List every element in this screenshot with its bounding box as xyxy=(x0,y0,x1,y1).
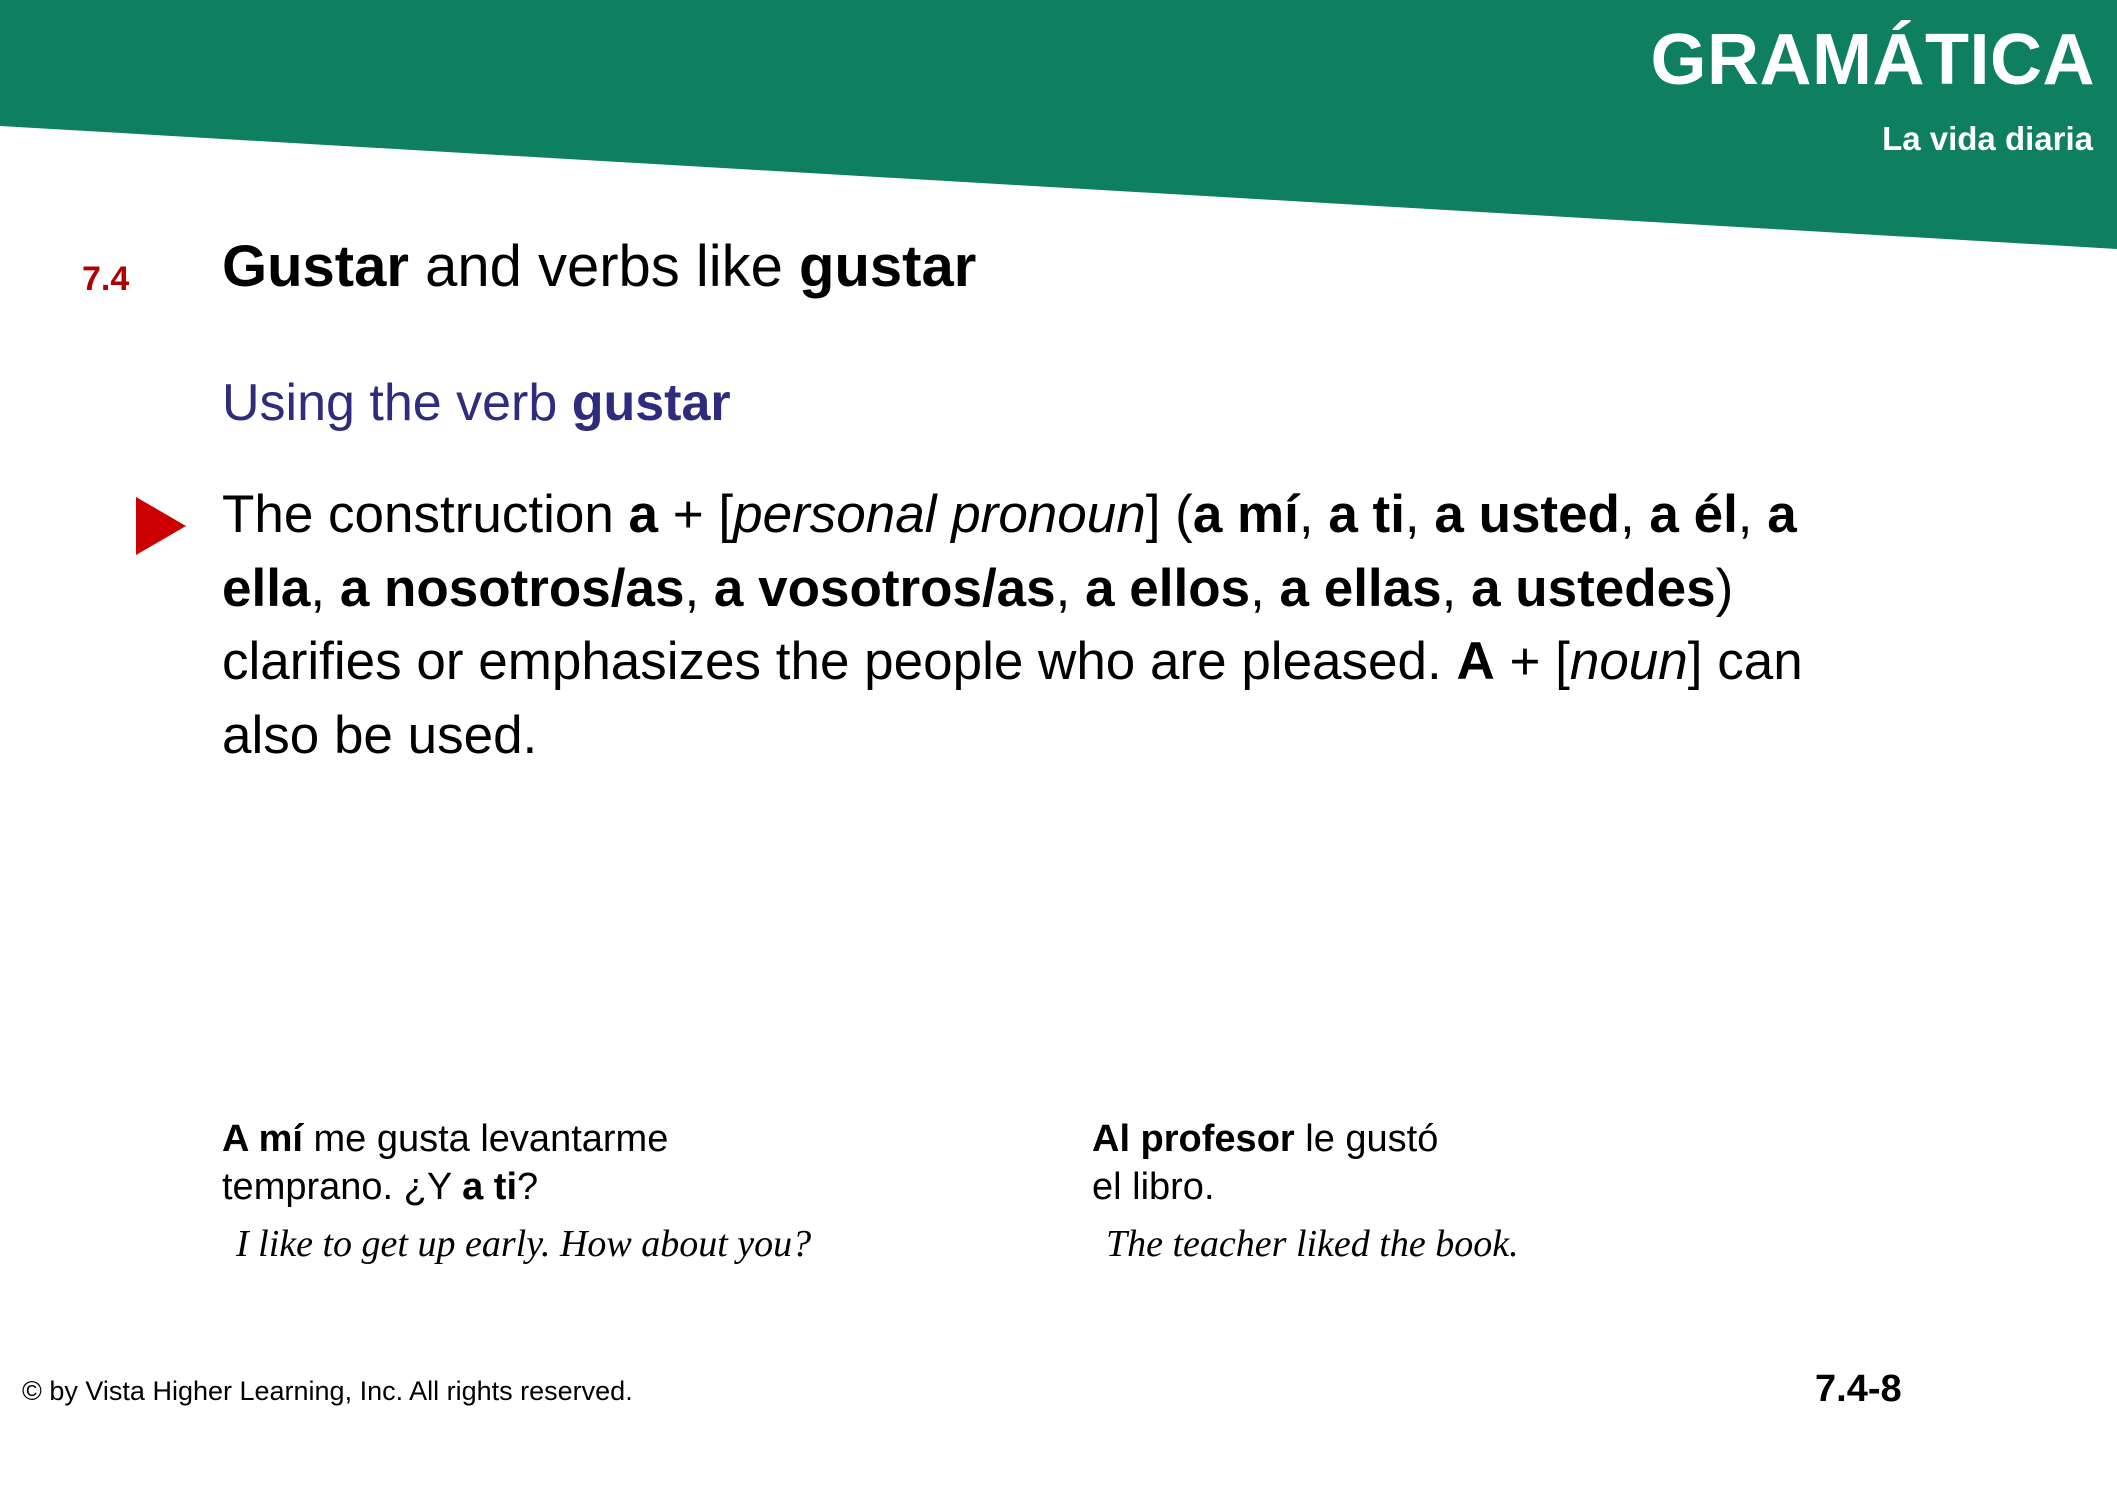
section-title-keyword-2: gustar xyxy=(799,234,976,299)
text-run: , xyxy=(684,559,713,618)
text-run-bold: a xyxy=(629,485,658,544)
section-title: Gustar and verbs like gustar xyxy=(222,235,976,300)
text-run: , xyxy=(1405,485,1434,544)
text-run-bold: A mí xyxy=(222,1118,303,1160)
text-run: temprano. ¿Y xyxy=(222,1166,462,1208)
text-run-bold: a usted xyxy=(1434,485,1620,544)
text-run-bold: A xyxy=(1456,632,1494,691)
header-subtitle: La vida diaria xyxy=(1882,122,2093,155)
section-title-middle: and verbs like xyxy=(409,234,799,299)
text-run: le gustó xyxy=(1295,1118,1439,1160)
header-title: GRAMÁTICA xyxy=(1651,24,2095,96)
example-english-right: The teacher liked the book. xyxy=(1092,1222,1842,1268)
text-run-bold: a ustedes xyxy=(1471,559,1716,618)
text-run-bold: a mí xyxy=(1193,485,1299,544)
text-run: el libro. xyxy=(1092,1166,1215,1208)
text-run-bold: a nosotros/as xyxy=(340,559,685,618)
text-run-italic: personal pronoun xyxy=(733,485,1146,544)
example-item-right: Al profesor le gustó el libro. The teach… xyxy=(1092,1115,1842,1267)
text-run: + [ xyxy=(658,485,733,544)
example-spanish-right: Al profesor le gustó el libro. xyxy=(1092,1115,1842,1212)
sub-heading-prefix: Using the verb xyxy=(222,374,572,432)
example-english-left: I like to get up early. How about you? xyxy=(222,1222,1092,1268)
text-run-bold: a ti xyxy=(1328,485,1405,544)
example-item-left: A mí me gusta levantarme temprano. ¿Y a … xyxy=(222,1115,1092,1267)
footer-page-number: 7.4-8 xyxy=(1815,1370,1902,1408)
slide-root: GRAMÁTICA La vida diaria 7.4 Gustar and … xyxy=(0,0,2117,1500)
section-number: 7.4 xyxy=(82,262,129,296)
text-run: , xyxy=(310,559,339,618)
text-run: , xyxy=(1738,485,1767,544)
text-run: , xyxy=(1056,559,1085,618)
text-run-bold: Al profesor xyxy=(1092,1118,1295,1160)
text-run: , xyxy=(1442,559,1471,618)
text-run-bold: a él xyxy=(1649,485,1737,544)
text-run: ] ( xyxy=(1146,485,1193,544)
example-spanish-left: A mí me gusta levantarme temprano. ¿Y a … xyxy=(222,1115,1092,1212)
triangle-right-icon xyxy=(136,497,186,555)
examples-section: A mí me gusta levantarme temprano. ¿Y a … xyxy=(222,1115,1842,1267)
text-run-bold: a ellos xyxy=(1085,559,1250,618)
text-run: ? xyxy=(517,1166,538,1208)
text-run-bold: a vosotros/as xyxy=(714,559,1056,618)
text-run: The construction xyxy=(222,485,629,544)
sub-heading: Using the verb gustar xyxy=(222,375,731,432)
footer-copyright: © by Vista Higher Learning, Inc. All rig… xyxy=(22,1378,633,1405)
text-run-bold: a ti xyxy=(462,1166,517,1208)
text-run: + [ xyxy=(1495,632,1570,691)
text-run-bold: a ellas xyxy=(1280,559,1442,618)
text-run-italic: noun xyxy=(1570,632,1688,691)
text-run: , xyxy=(1250,559,1279,618)
text-run: , xyxy=(1620,485,1649,544)
section-title-keyword-1: Gustar xyxy=(222,234,409,299)
text-run: , xyxy=(1299,485,1328,544)
sub-heading-keyword: gustar xyxy=(572,374,731,432)
bullet-paragraph: The construction a + [personal pronoun] … xyxy=(222,478,1842,773)
text-run: me gusta levantarme xyxy=(303,1118,668,1160)
